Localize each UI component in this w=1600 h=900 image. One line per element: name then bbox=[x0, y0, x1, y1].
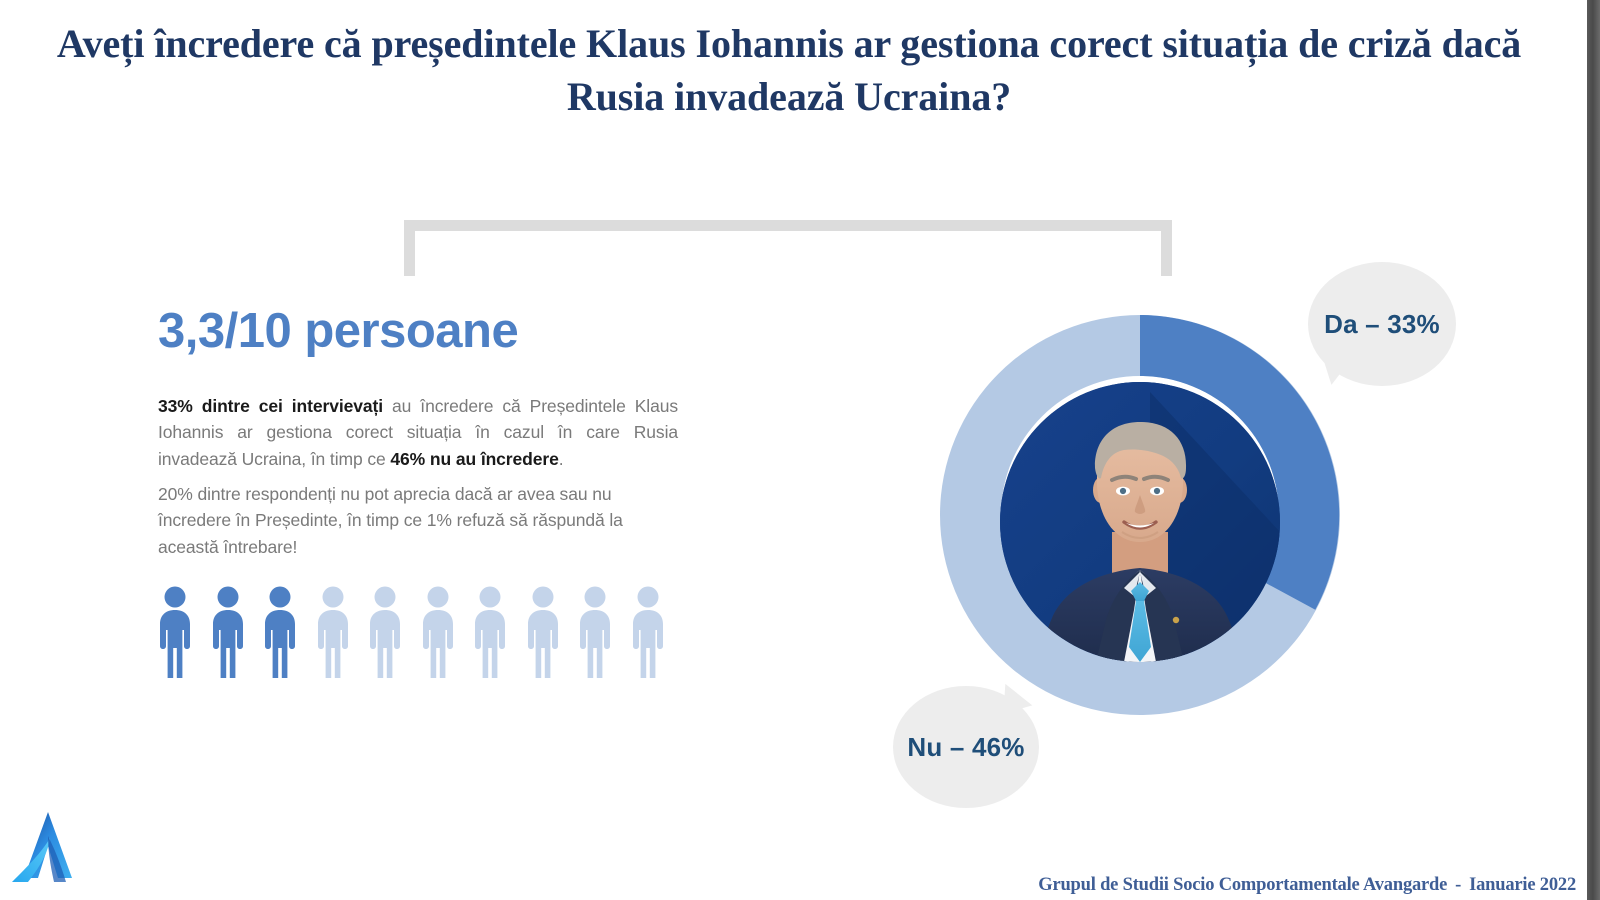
person-icon bbox=[155, 586, 195, 680]
callout-no-label: Nu – 46% bbox=[907, 732, 1024, 763]
person-icon bbox=[418, 586, 458, 680]
person-icon bbox=[208, 586, 248, 680]
callout-no: Nu – 46% bbox=[893, 686, 1039, 808]
callout-yes: Da – 33% bbox=[1308, 262, 1456, 386]
infographic-slide: Aveți încredere că președintele Klaus Io… bbox=[0, 0, 1600, 900]
person-icon bbox=[470, 586, 510, 680]
footer-credit: Grupul de Studii Socio Comportamentale A… bbox=[1038, 875, 1576, 896]
person-icon bbox=[523, 586, 563, 680]
headline-stat: 3,3/10 persoane bbox=[158, 305, 678, 359]
bold-lead: 33% dintre cei intervievați bbox=[158, 396, 383, 416]
person-icon bbox=[260, 586, 300, 680]
footer-period: Ianuarie 2022 bbox=[1469, 875, 1576, 895]
person-icon bbox=[575, 586, 615, 680]
bracket-connector bbox=[404, 220, 1172, 276]
donut-chart bbox=[910, 300, 1370, 730]
pictogram-people bbox=[155, 586, 675, 686]
window-edge-band bbox=[1587, 0, 1600, 900]
portrait-photo bbox=[1000, 382, 1280, 662]
left-panel: 3,3/10 persoane 33% dintre cei interviev… bbox=[158, 305, 678, 568]
page-title: Aveți încredere că președintele Klaus Io… bbox=[0, 18, 1578, 124]
paragraph-secondary: 20% dintre respondenți nu pot aprecia da… bbox=[158, 481, 678, 561]
person-icon bbox=[313, 586, 353, 680]
bold-tail: 46% nu au încredere bbox=[390, 449, 558, 469]
footer-organisation: Grupul de Studii Socio Comportamentale A… bbox=[1038, 875, 1447, 895]
paragraph-end: . bbox=[559, 449, 564, 469]
portrait-illustration bbox=[1000, 382, 1280, 662]
avangarde-logo-icon bbox=[6, 808, 90, 886]
footer-separator: - bbox=[1447, 875, 1469, 895]
person-icon bbox=[365, 586, 405, 680]
paragraph-primary: 33% dintre cei intervievați au încredere… bbox=[158, 393, 678, 473]
callout-yes-label: Da – 33% bbox=[1324, 309, 1440, 340]
person-icon bbox=[628, 586, 668, 680]
